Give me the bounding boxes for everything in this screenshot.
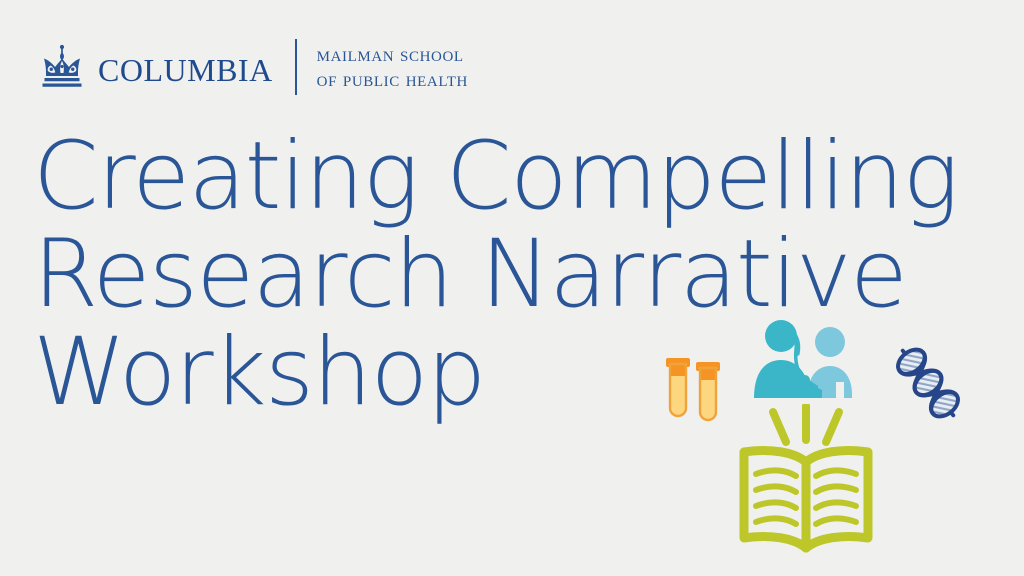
presentation-slide: Columbia Mailman School of Public Health… — [0, 0, 1024, 576]
open-book-icon — [726, 404, 886, 556]
dna-icon — [888, 340, 968, 426]
title-line-2: Research Narrative — [33, 226, 963, 324]
school-name-line-2: of Public Health — [317, 67, 468, 92]
school-name: Mailman School of Public Health — [317, 42, 468, 92]
columbia-mailman-logo[interactable]: Columbia Mailman School of Public Health — [36, 38, 468, 96]
doctor-patient-icon — [748, 316, 868, 400]
columbia-wordmark: Columbia — [98, 43, 273, 91]
illustration-group — [648, 312, 998, 562]
logo-divider — [295, 39, 297, 95]
columbia-crown-icon — [36, 44, 88, 90]
school-name-line-1: Mailman School — [317, 42, 468, 67]
title-line-1: Creating Compelling — [33, 128, 963, 226]
